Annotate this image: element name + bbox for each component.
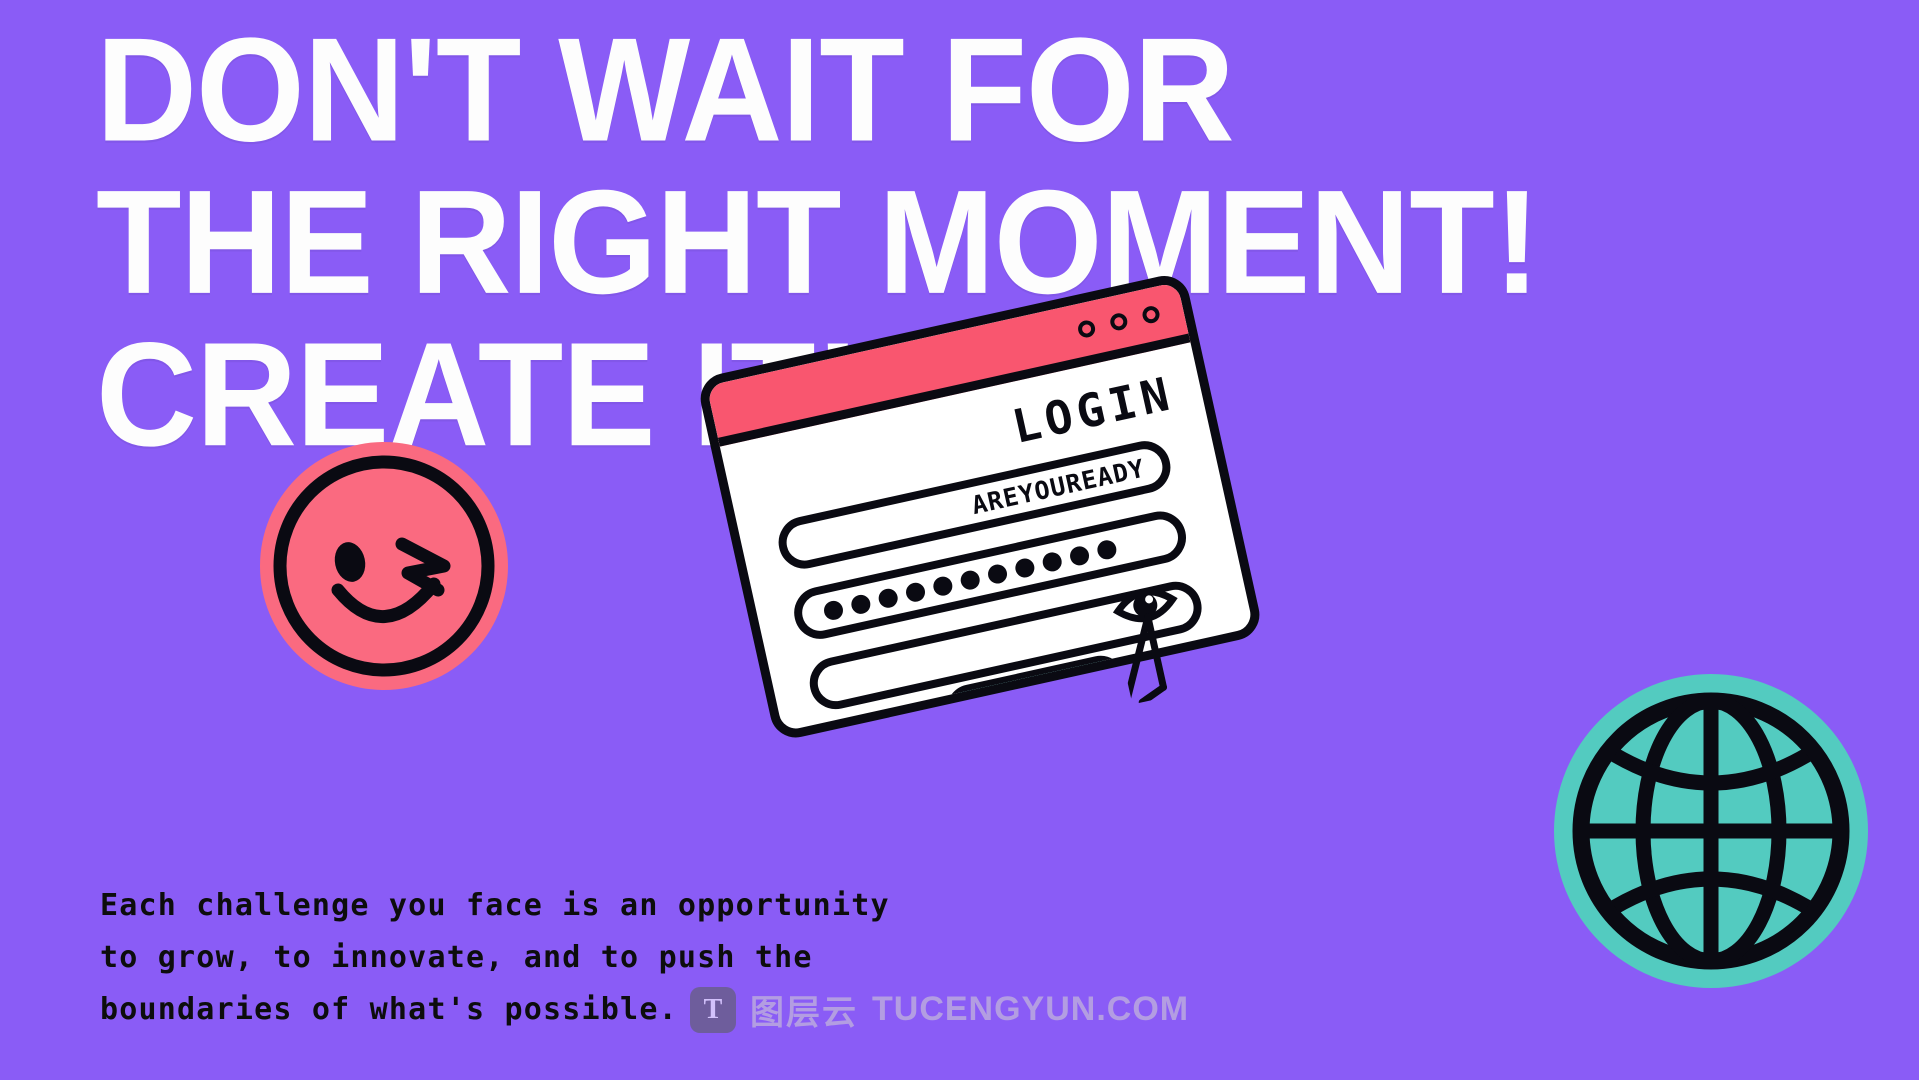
- username-value: AREYOUREADY: [969, 453, 1148, 520]
- window-dot-1-icon[interactable]: [1076, 319, 1096, 339]
- password-dot: [986, 562, 1009, 585]
- headline-line-1: DON'T WAIT FOR: [96, 14, 1495, 166]
- poster-canvas: DON'T WAIT FOR THE RIGHT MOMENT! CREATE …: [0, 0, 1919, 1080]
- password-dot: [931, 574, 954, 597]
- watermark-latin-text: TUCENGYUN.COM: [872, 990, 1189, 1029]
- body-line-2: to grow, to innovate, and to push the: [100, 932, 1000, 984]
- password-dot: [849, 593, 872, 616]
- password-dot: [822, 599, 845, 622]
- globe-icon: [1552, 672, 1870, 990]
- password-dot: [1041, 550, 1064, 573]
- watermark-chinese-text: 图层云: [750, 985, 858, 1034]
- password-dot: [904, 580, 927, 603]
- window-dot-3-icon[interactable]: [1141, 305, 1161, 325]
- watermark: T 图层云 TUCENGYUN.COM: [690, 985, 1189, 1034]
- password-dot: [1068, 544, 1091, 567]
- winking-smiley-icon: [258, 440, 510, 692]
- body-line-1: Each challenge you face is an opportunit…: [100, 880, 1000, 932]
- watermark-badge-icon: T: [690, 987, 736, 1033]
- login-heading: LOGIN: [1007, 366, 1178, 454]
- window-dot-2-icon[interactable]: [1109, 312, 1129, 332]
- password-dot: [877, 586, 900, 609]
- password-dot: [959, 568, 982, 591]
- headline-line-2: THE RIGHT MOMENT!: [96, 166, 1495, 318]
- password-dot: [1013, 556, 1036, 579]
